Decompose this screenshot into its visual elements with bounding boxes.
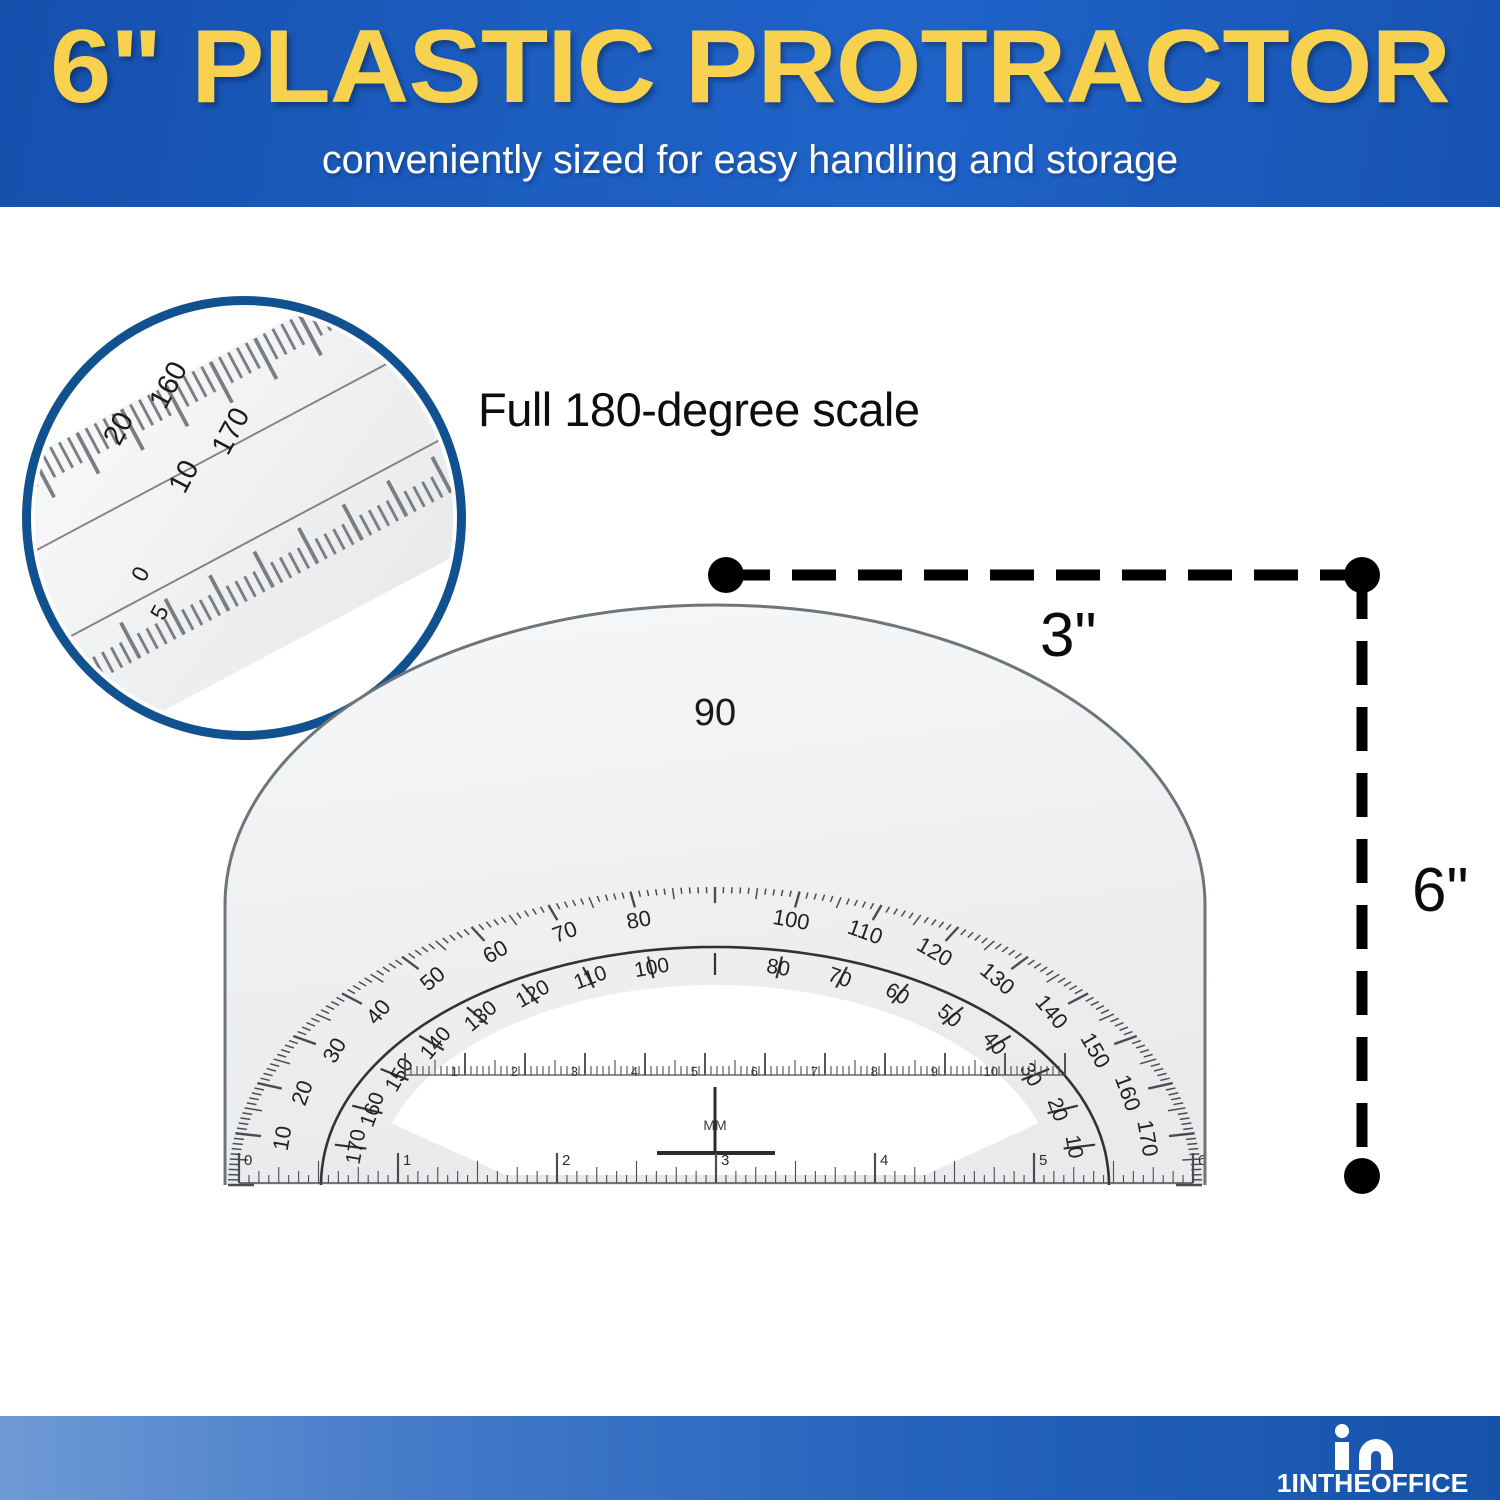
- width-dim-end-dot: [1344, 557, 1380, 593]
- inch-tick-label: 3: [721, 1152, 729, 1169]
- header-subtitle: conveniently sized for easy handling and…: [8, 136, 1493, 184]
- in-logo-icon: [1325, 1424, 1417, 1470]
- mm-tick-label: 5: [691, 1064, 698, 1079]
- outer-scale-label: 80: [624, 905, 652, 934]
- mm-tick-label: 1: [451, 1064, 458, 1079]
- inch-tick-label: 2: [562, 1152, 570, 1169]
- mm-tick-label: 2: [511, 1064, 518, 1079]
- height-dimension-label: 6": [1412, 855, 1469, 926]
- header-banner: 6" PLASTIC PROTRACTOR conveniently sized…: [0, 0, 1500, 207]
- mm-tick-label: 7: [811, 1064, 818, 1079]
- outer-scale-label: 10: [268, 1124, 297, 1152]
- page-title: 6" PLASTIC PROTRACTOR: [0, 8, 1500, 126]
- inch-tick-label: 0: [244, 1152, 252, 1169]
- inch-tick-label: 5: [1039, 1152, 1047, 1169]
- protractor-graphic: 1020304050607080100110120130140150160170…: [205, 575, 1225, 1200]
- mm-tick-label: 8: [871, 1064, 878, 1079]
- feature-callout: Full 180-degree scale: [478, 382, 920, 437]
- brand-logo: 1INTHEOFFICE: [1265, 1424, 1480, 1496]
- inch-tick-label: 1: [403, 1152, 411, 1169]
- height-dim-end-dot: [1344, 1158, 1380, 1194]
- inner-scale-label: 10: [1061, 1133, 1088, 1160]
- apex-label-90: 90: [694, 692, 736, 734]
- mm-tick-label: 4: [631, 1064, 638, 1079]
- brand-name: 1INTHEOFFICE: [1263, 1468, 1482, 1499]
- inner-scale-label: 80: [765, 954, 792, 981]
- inch-tick-label: 4: [880, 1152, 888, 1169]
- mm-tick-label: 3: [571, 1064, 578, 1079]
- mm-tick-label: 9: [931, 1064, 938, 1079]
- mm-tick-label: 10: [984, 1064, 998, 1079]
- footer-band: 1INTHEOFFICE: [0, 1416, 1500, 1500]
- mm-tick-label: 6: [751, 1064, 758, 1079]
